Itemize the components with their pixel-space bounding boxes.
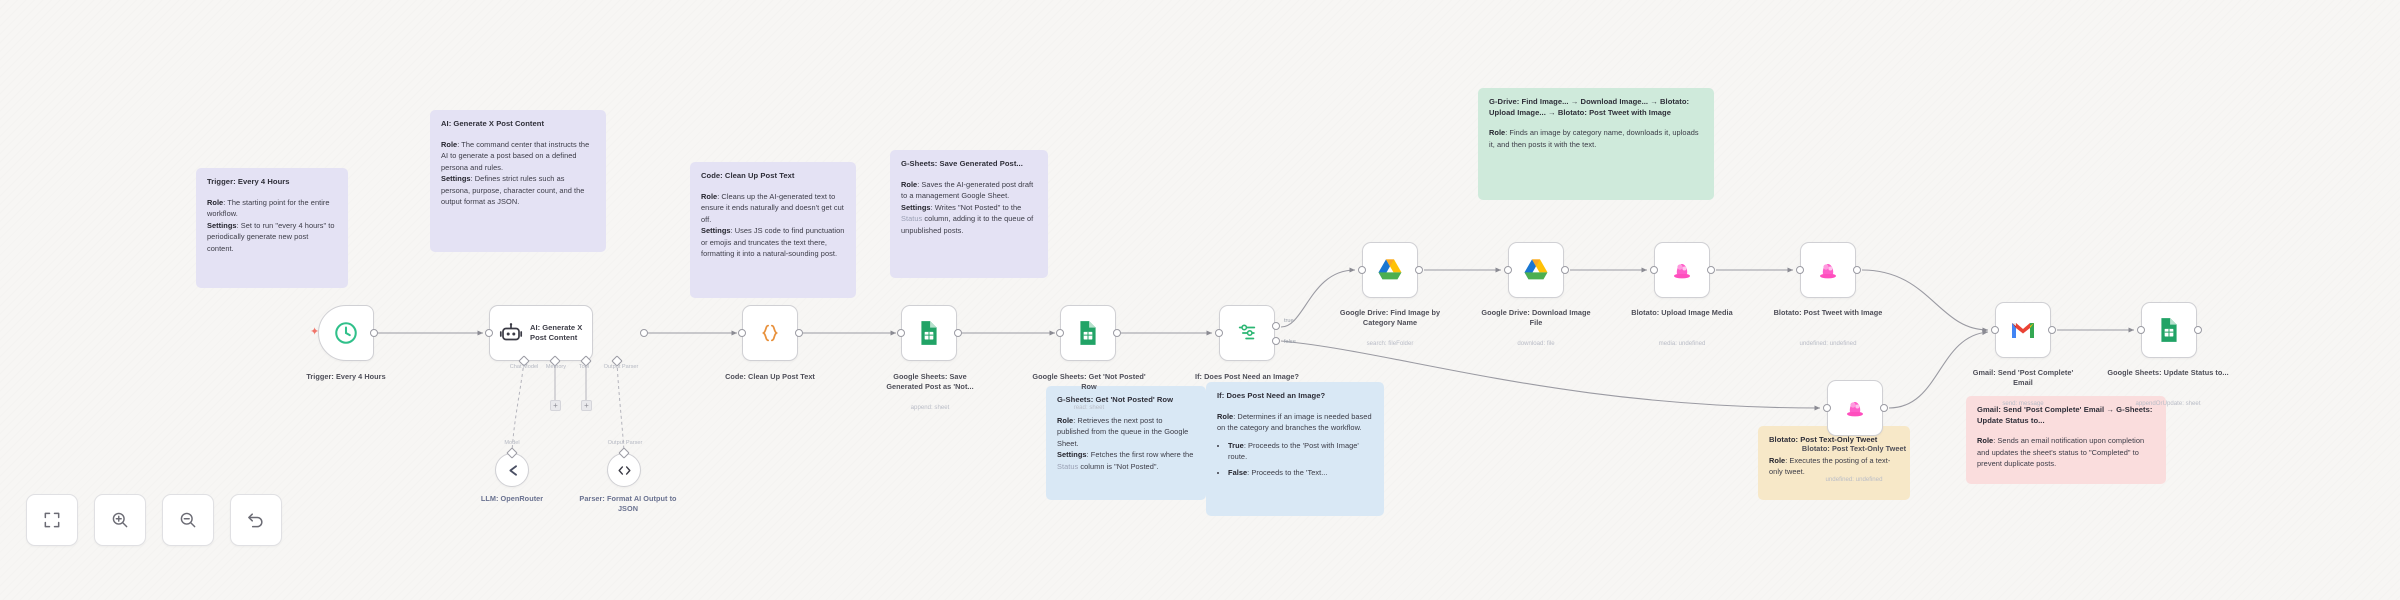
zoom-in-button[interactable] [94,494,146,546]
reset-zoom-button[interactable] [230,494,282,546]
canvas-toolbar [0,0,2400,600]
zoom-out-button[interactable] [162,494,214,546]
fit-screen-icon [42,510,62,530]
fit-view-button[interactable] [26,494,78,546]
zoom-in-icon [110,510,130,530]
zoom-out-icon [178,510,198,530]
undo-icon [246,510,266,530]
